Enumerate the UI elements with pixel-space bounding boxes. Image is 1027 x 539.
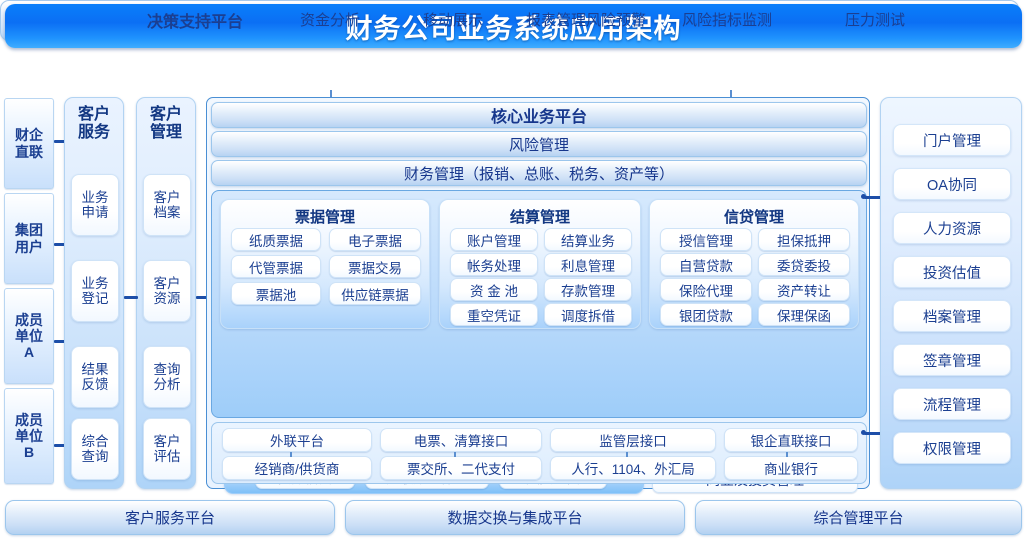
bottom-platform-0[interactable]: 客户服务平台 [5, 500, 335, 535]
tile-settle-6[interactable]: 重空凭证 [450, 303, 538, 326]
architecture-diagram: 财务公司业务系统应用架构 决策支持平台 资金分析 移动展示 报表管理风险预警 风… [0, 0, 1027, 539]
interface-bottom-1[interactable]: 票交所、二代支付 [380, 456, 542, 480]
mgmt-item-2[interactable]: 人力资源 [893, 212, 1011, 244]
tile-bill-5[interactable]: 供应链票据 [329, 282, 421, 305]
connector-dot-right-2 [861, 430, 866, 435]
connector-dot-right-1 [861, 194, 866, 199]
connector-svc-mgt [124, 296, 138, 299]
interface-zone: 外联平台 电票、清算接口 监管层接口 银企直联接口 经销商/供货商 票交所、二代… [211, 422, 867, 484]
customer-service-cell-1[interactable]: 业务登记 [71, 260, 119, 322]
management-column: 门户管理 OA协同 人力资源 投资估值 档案管理 签章管理 流程管理 权限管理 [880, 97, 1022, 489]
interface-top-3[interactable]: 银企直联接口 [724, 428, 858, 452]
tile-bill-3[interactable]: 票据交易 [329, 255, 421, 278]
group-bill-management: 票据管理 纸质票据 电子票据 代管票据 票据交易 票据池 供应链票据 [220, 199, 430, 329]
user-box-1[interactable]: 集团用户 [4, 193, 54, 284]
mgmt-item-5[interactable]: 签章管理 [893, 344, 1011, 376]
mgmt-item-4[interactable]: 档案管理 [893, 300, 1011, 332]
interface-bottom-2[interactable]: 人行、1104、外汇局 [550, 456, 716, 480]
tile-bill-2[interactable]: 代管票据 [231, 255, 321, 278]
group-settlement-management: 结算管理 账户管理 结算业务 帐务处理 利息管理 资 金 池 存款管理 重空凭证… [439, 199, 641, 329]
tile-settle-3[interactable]: 利息管理 [544, 253, 632, 276]
connector-if-3 [786, 452, 788, 457]
customer-management-cell-0[interactable]: 客户档案 [143, 174, 191, 236]
interface-bottom-3[interactable]: 商业银行 [724, 456, 858, 480]
connector-if-0 [290, 452, 292, 457]
tile-bill-1[interactable]: 电子票据 [329, 228, 421, 251]
customer-management-cell-1[interactable]: 客户资源 [143, 260, 191, 322]
customer-service-cell-0[interactable]: 业务申请 [71, 174, 119, 236]
mgmt-item-3[interactable]: 投资估值 [893, 256, 1011, 288]
customer-service-cell-2[interactable]: 结果反馈 [71, 346, 119, 408]
customer-management-cell-3[interactable]: 客户评估 [143, 418, 191, 480]
mgmt-item-0[interactable]: 门户管理 [893, 124, 1011, 156]
dsbar-item-4[interactable]: 压力测试 [800, 0, 950, 39]
interface-top-2[interactable]: 监管层接口 [550, 428, 716, 452]
customer-management-cell-2[interactable]: 查询分析 [143, 346, 191, 408]
tile-settle-0[interactable]: 账户管理 [450, 228, 538, 251]
group-credit-management: 信贷管理 授信管理 担保抵押 自营贷款 委贷委投 保险代理 资产转让 银团贷款 … [649, 199, 859, 329]
tile-settle-2[interactable]: 帐务处理 [450, 253, 538, 276]
business-groups-zone: 票据管理 纸质票据 电子票据 代管票据 票据交易 票据池 供应链票据 结算管理 … [211, 190, 867, 418]
tile-bill-0[interactable]: 纸质票据 [231, 228, 321, 251]
tile-settle-5[interactable]: 存款管理 [544, 278, 632, 301]
mgmt-item-1[interactable]: OA协同 [893, 168, 1011, 200]
tile-credit-4[interactable]: 保险代理 [660, 278, 752, 301]
tile-credit-1[interactable]: 担保抵押 [758, 228, 850, 251]
tile-credit-6[interactable]: 银团贷款 [660, 303, 752, 326]
core-platform-panel: 核心业务平台 风险管理 财务管理（报销、总账、税务、资产等） 票据管理 纸质票据… [206, 97, 870, 489]
user-box-2[interactable]: 成员单位A [4, 288, 54, 384]
interface-bottom-0[interactable]: 经销商/供货商 [222, 456, 372, 480]
customer-service-cell-3[interactable]: 综合查询 [71, 418, 119, 480]
customer-service-header: 客户服务 [65, 106, 123, 143]
group-bill-management-header: 票据管理 [221, 206, 429, 227]
core-band-title: 核心业务平台 [211, 102, 867, 128]
user-box-3[interactable]: 成员单位B [4, 388, 54, 484]
tile-settle-1[interactable]: 结算业务 [544, 228, 632, 251]
dsbar-item-3[interactable]: 风险指标监测 [652, 0, 802, 39]
finance-management-band[interactable]: 财务管理（报销、总账、税务、资产等） [211, 160, 867, 186]
user-box-0[interactable]: 财企直联 [4, 98, 54, 189]
bottom-platform-2[interactable]: 综合管理平台 [695, 500, 1022, 535]
customer-service-column: 客户服务 业务申请 业务登记 结果反馈 综合查询 [64, 97, 124, 489]
customer-management-header: 客户管理 [137, 106, 195, 143]
interface-top-0[interactable]: 外联平台 [222, 428, 372, 452]
connector-if-1 [454, 452, 456, 457]
interface-top-1[interactable]: 电票、清算接口 [380, 428, 542, 452]
bottom-platform-1[interactable]: 数据交换与集成平台 [345, 500, 685, 535]
tile-bill-4[interactable]: 票据池 [231, 282, 321, 305]
group-settlement-management-header: 结算管理 [440, 206, 640, 227]
decision-support-bar: 决策支持平台 资金分析 移动展示 报表管理风险预警 风险指标监测 压力测试 [0, 0, 1019, 41]
tile-credit-5[interactable]: 资产转让 [758, 278, 850, 301]
group-credit-management-header: 信贷管理 [650, 206, 858, 227]
tile-credit-3[interactable]: 委贷委投 [758, 253, 850, 276]
tile-credit-7[interactable]: 保理保函 [758, 303, 850, 326]
connector-if-2 [626, 452, 628, 457]
tile-settle-4[interactable]: 资 金 池 [450, 278, 538, 301]
tile-settle-7[interactable]: 调度拆借 [544, 303, 632, 326]
risk-management-band[interactable]: 风险管理 [211, 131, 867, 157]
tile-credit-0[interactable]: 授信管理 [660, 228, 752, 251]
tile-credit-2[interactable]: 自营贷款 [660, 253, 752, 276]
mgmt-item-6[interactable]: 流程管理 [893, 388, 1011, 420]
customer-management-column: 客户管理 客户档案 客户资源 查询分析 客户评估 [136, 97, 196, 489]
mgmt-item-7[interactable]: 权限管理 [893, 432, 1011, 464]
